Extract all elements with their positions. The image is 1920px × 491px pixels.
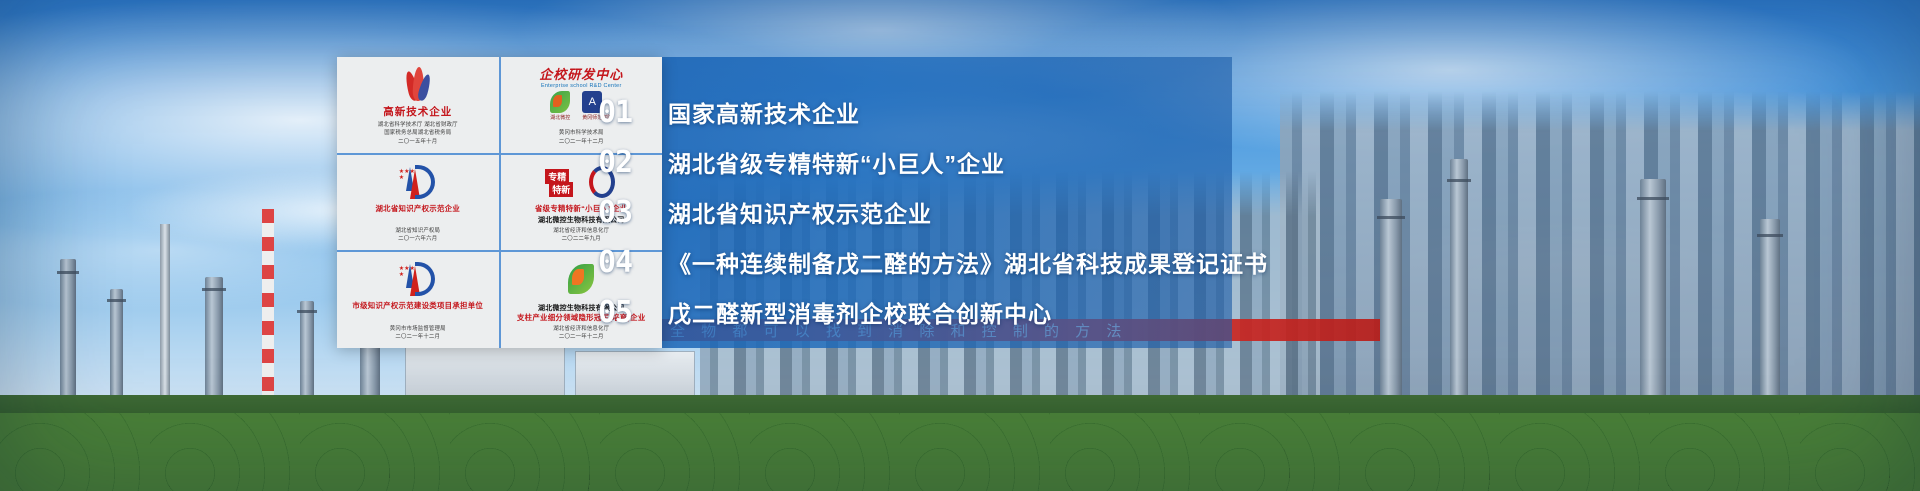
- flame-emblem: [405, 64, 431, 104]
- honor-number: 02: [598, 145, 646, 180]
- issuer-date: 二〇一五年十月: [378, 138, 458, 146]
- honor-number: 03: [598, 195, 646, 230]
- certificate-title: 高新技术企业: [383, 106, 452, 119]
- honor-text: 《一种连续制备戊二醛的方法》湖北省科技成果登记证书: [668, 245, 1268, 279]
- honor-row: 02 湖北省级专精特新“小巨人”企业: [598, 137, 1246, 187]
- certificate-card[interactable]: 高新技术企业 湖北省科学技术厅 湖北省财政厅 国家税务总局湖北省税务局 二〇一五…: [337, 57, 499, 153]
- issuer-line: 湖北省科学技术厅 湖北省财政厅: [378, 121, 458, 129]
- honor-row: 04 《一种连续制备戊二醛的方法》湖北省科技成果登记证书: [598, 237, 1246, 287]
- honor-row: 03 湖北省知识产权示范企业: [598, 187, 1246, 237]
- certificate-issuer: 湖北省科学技术厅 湖北省财政厅 国家税务总局湖北省税务局 二〇一五年十月: [378, 121, 458, 147]
- banner-stage: 全 物 都 可 以 找 到 消 除 和 控 制 的 方 法 高新技术企业 湖北省…: [0, 0, 1920, 491]
- honor-number: 05: [598, 295, 646, 330]
- honor-text: 国家高新技术企业: [668, 95, 860, 129]
- certificate-card[interactable]: ★★★★ 市级知识产权示范建设类项目承担单位 黄冈市市场监督管理局 二〇二一年十…: [337, 252, 499, 348]
- certificate-issuer: 湖北省知识产权局 二〇一六年六月: [395, 227, 440, 245]
- honor-number: 04: [598, 245, 646, 280]
- honor-row: 01 国家高新技术企业: [598, 87, 1246, 137]
- honor-text: 湖北省级专精特新“小巨人”企业: [668, 145, 1005, 179]
- certificate-title: 市级知识产权示范建设类项目承担单位: [352, 301, 483, 310]
- ip-emblem: ★★★★: [401, 259, 435, 299]
- issuer-date: 二〇二一年十二月: [390, 333, 446, 341]
- certificate-title: 湖北省知识产权示范企业: [375, 204, 460, 213]
- issuer-date: 二〇一六年六月: [395, 235, 440, 243]
- certificate-card[interactable]: ★★★★ 湖北省知识产权示范企业 湖北省知识产权局 二〇一六年六月: [337, 155, 499, 251]
- honors-list: 01 国家高新技术企业 02 湖北省级专精特新“小巨人”企业 03 湖北省知识产…: [546, 57, 1246, 348]
- certificate-issuer: 黄冈市市场监督管理局 二〇二一年十二月: [390, 325, 446, 343]
- issuer-line: 黄冈市市场监督管理局: [390, 325, 446, 333]
- issuer-line: 湖北省知识产权局: [395, 227, 440, 235]
- issuer-line: 国家税务总局湖北省税务局: [378, 129, 458, 137]
- honor-text: 湖北省知识产权示范企业: [668, 195, 932, 229]
- ip-emblem: ★★★★: [401, 162, 435, 202]
- honor-row: 05 戊二醛新型消毒剂企校联合创新中心: [598, 287, 1246, 337]
- honor-number: 01: [598, 95, 646, 130]
- honor-text: 戊二醛新型消毒剂企校联合创新中心: [668, 295, 1052, 329]
